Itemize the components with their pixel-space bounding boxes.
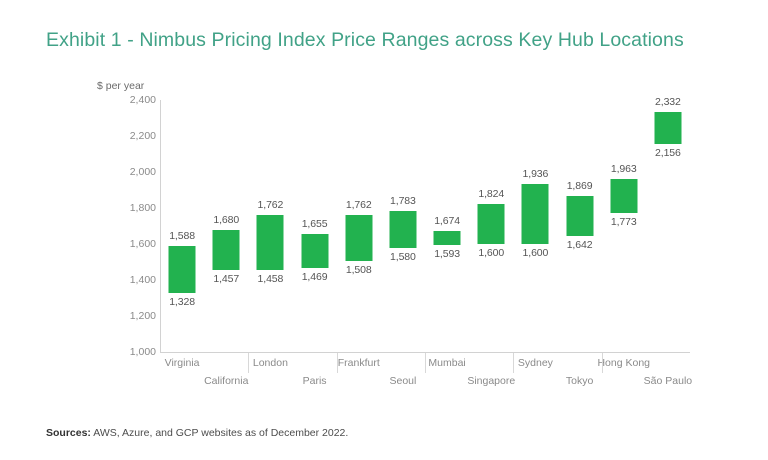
- x-axis-category-label: Paris: [303, 375, 327, 387]
- bar-low-value-label: 1,328: [169, 296, 195, 308]
- y-axis-tick-label: 1,800: [102, 202, 156, 214]
- x-axis-category-label: Hong Kong: [597, 357, 650, 369]
- bar-high-value-label: 1,824: [478, 188, 504, 200]
- y-axis-tick-label: 1,200: [102, 310, 156, 322]
- bar-high-value-label: 1,674: [434, 215, 460, 227]
- bar-rect[interactable]: [301, 234, 328, 267]
- bar-high-value-label: 1,869: [567, 180, 593, 192]
- bar-group[interactable]: 1,6551,469: [293, 100, 337, 352]
- bar-low-value-label: 1,600: [478, 247, 504, 259]
- y-axis-tick-label: 2,000: [102, 166, 156, 178]
- bar-group[interactable]: 1,6801,457: [204, 100, 248, 352]
- bar-group[interactable]: 1,6741,593: [425, 100, 469, 352]
- bar-high-value-label: 1,936: [523, 168, 549, 180]
- y-axis-tick-label: 1,400: [102, 274, 156, 286]
- bar-group[interactable]: 1,9361,600: [513, 100, 557, 352]
- x-axis-category-label: California: [204, 375, 248, 387]
- x-axis-category-label: Frankfurt: [338, 357, 380, 369]
- x-axis-category-label: Mumbai: [428, 357, 465, 369]
- bar-group[interactable]: 1,7621,508: [337, 100, 381, 352]
- x-axis-category-label: São Paulo: [644, 375, 692, 387]
- x-axis-tick-separator: [337, 353, 338, 373]
- x-axis-category-label: Singapore: [467, 375, 515, 387]
- bar-rect[interactable]: [654, 112, 681, 144]
- bar-rect[interactable]: [213, 230, 240, 270]
- x-axis-category-label: Virginia: [165, 357, 200, 369]
- x-axis-category-labels: VirginiaCaliforniaLondonParisFrankfurtSe…: [160, 353, 690, 399]
- sources-label: Sources:: [46, 427, 91, 439]
- bar-high-value-label: 1,762: [346, 199, 372, 211]
- bar-low-value-label: 1,642: [567, 239, 593, 251]
- y-axis-tick-label: 1,600: [102, 238, 156, 250]
- bar-group[interactable]: 1,9631,773: [602, 100, 646, 352]
- x-axis-tick-separator: [425, 353, 426, 373]
- x-axis-category-label: London: [253, 357, 288, 369]
- bar-group[interactable]: 1,8241,600: [469, 100, 513, 352]
- bar-low-value-label: 1,580: [390, 251, 416, 263]
- x-axis-category-label: Seoul: [389, 375, 416, 387]
- x-axis-tick-separator: [513, 353, 514, 373]
- x-axis-category-label: Sydney: [518, 357, 553, 369]
- bar-high-value-label: 1,783: [390, 195, 416, 207]
- bar-high-value-label: 1,963: [611, 163, 637, 175]
- y-axis-tick-label: 1,000: [102, 346, 156, 358]
- y-axis-tick-label: 2,200: [102, 130, 156, 142]
- sources-note: Sources: AWS, Azure, and GCP websites as…: [46, 427, 348, 439]
- y-axis-tick-label: 2,400: [102, 94, 156, 106]
- bar-high-value-label: 1,588: [169, 230, 195, 242]
- bar-rect[interactable]: [169, 246, 196, 293]
- bar-rect[interactable]: [345, 215, 372, 261]
- bar-low-value-label: 1,773: [611, 216, 637, 228]
- bar-high-value-label: 1,655: [302, 218, 328, 230]
- bar-high-value-label: 1,762: [258, 199, 284, 211]
- bar-rect[interactable]: [522, 184, 549, 244]
- bar-series-layer: 1,5881,3281,6801,4571,7621,4581,6551,469…: [160, 100, 690, 352]
- bar-low-value-label: 1,458: [258, 273, 284, 285]
- bar-rect[interactable]: [478, 204, 505, 244]
- y-axis-tick-labels: 2,4002,2002,0001,8001,6001,4001,2001,000: [100, 0, 156, 400]
- bar-group[interactable]: 1,7621,458: [248, 100, 292, 352]
- x-axis-category-label: Tokyo: [566, 375, 593, 387]
- sources-text: AWS, Azure, and GCP websites as of Decem…: [91, 427, 348, 439]
- bar-low-value-label: 1,457: [213, 273, 239, 285]
- bar-rect[interactable]: [566, 196, 593, 237]
- bar-low-value-label: 1,593: [434, 248, 460, 260]
- bar-high-value-label: 1,680: [213, 214, 239, 226]
- bar-group[interactable]: 1,7831,580: [381, 100, 425, 352]
- bar-low-value-label: 2,156: [655, 147, 681, 159]
- bar-rect[interactable]: [389, 211, 416, 248]
- x-axis-tick-separator: [602, 353, 603, 373]
- bar-low-value-label: 1,508: [346, 264, 372, 276]
- bar-low-value-label: 1,600: [523, 247, 549, 259]
- bar-group[interactable]: 1,5881,328: [160, 100, 204, 352]
- bar-group[interactable]: 1,8691,642: [558, 100, 602, 352]
- bar-low-value-label: 1,469: [302, 271, 328, 283]
- bar-rect[interactable]: [610, 179, 637, 213]
- x-axis-tick-separator: [248, 353, 249, 373]
- bar-rect[interactable]: [257, 215, 284, 270]
- bar-high-value-label: 2,332: [655, 96, 681, 108]
- bar-rect[interactable]: [434, 231, 461, 246]
- bar-group[interactable]: 2,3322,156: [646, 100, 690, 352]
- chart-plot-area: $ per year 2,4002,2002,0001,8001,6001,40…: [0, 0, 768, 400]
